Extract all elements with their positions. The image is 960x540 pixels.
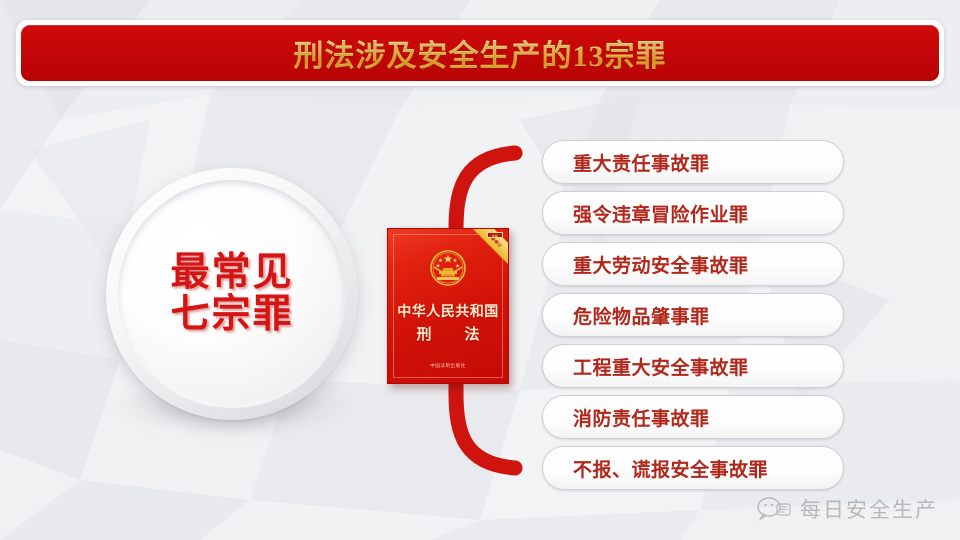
circle-label-line1: 最常见 (170, 252, 293, 294)
list-item[interactable]: 工程重大安全事故罪 (542, 344, 844, 388)
list-item-label: 不报、谎报安全事故罪 (573, 455, 768, 482)
title-banner-inner: 刑法涉及安全生产的13宗罪 (21, 25, 939, 81)
list-item[interactable]: 不报、谎报安全事故罪 (542, 446, 844, 490)
crime-list: 重大责任事故罪 强令违章冒险作业罪 重大劳动安全事故罪 危险物品肇事罪 工程重大… (542, 140, 844, 490)
national-emblem-icon (427, 247, 469, 289)
list-item-label: 重大责任事故罪 (573, 149, 710, 176)
watermark: 每日安全生产 (757, 494, 938, 524)
list-item-label: 消防责任事故罪 (573, 404, 710, 431)
book-title-law: 刑 法 (388, 323, 508, 344)
book-title-country: 中华人民共和国 (388, 301, 508, 321)
circle-label-line2: 七宗罪 (170, 294, 293, 336)
list-item-label: 工程重大安全事故罪 (573, 353, 749, 380)
list-item[interactable]: 消防责任事故罪 (542, 395, 844, 439)
list-item-label: 强令违章冒险作业罪 (573, 200, 749, 227)
page-title: 刑法涉及安全生产的13宗罪 (294, 31, 667, 75)
most-common-circle-face: 最常见 七宗罪 (118, 180, 346, 408)
criminal-law-book: 最新修订 新版 中华人民共和国 刑 法 中国法制出版社 (387, 228, 509, 384)
list-item[interactable]: 危险物品肇事罪 (542, 293, 844, 337)
book-publisher: 中国法制出版社 (388, 363, 508, 369)
title-banner: 刑法涉及安全生产的13宗罪 (16, 20, 944, 86)
wechat-icon (757, 496, 791, 522)
watermark-label: 每日安全生产 (800, 494, 938, 524)
book-corner-tag: 新版 (487, 232, 503, 238)
list-item[interactable]: 重大劳动安全事故罪 (542, 242, 844, 286)
most-common-circle: 最常见 七宗罪 (106, 168, 358, 420)
list-item[interactable]: 强令违章冒险作业罪 (542, 191, 844, 235)
list-item-label: 危险物品肇事罪 (573, 302, 710, 329)
list-item[interactable]: 重大责任事故罪 (542, 140, 844, 184)
list-item-label: 重大劳动安全事故罪 (573, 251, 749, 278)
